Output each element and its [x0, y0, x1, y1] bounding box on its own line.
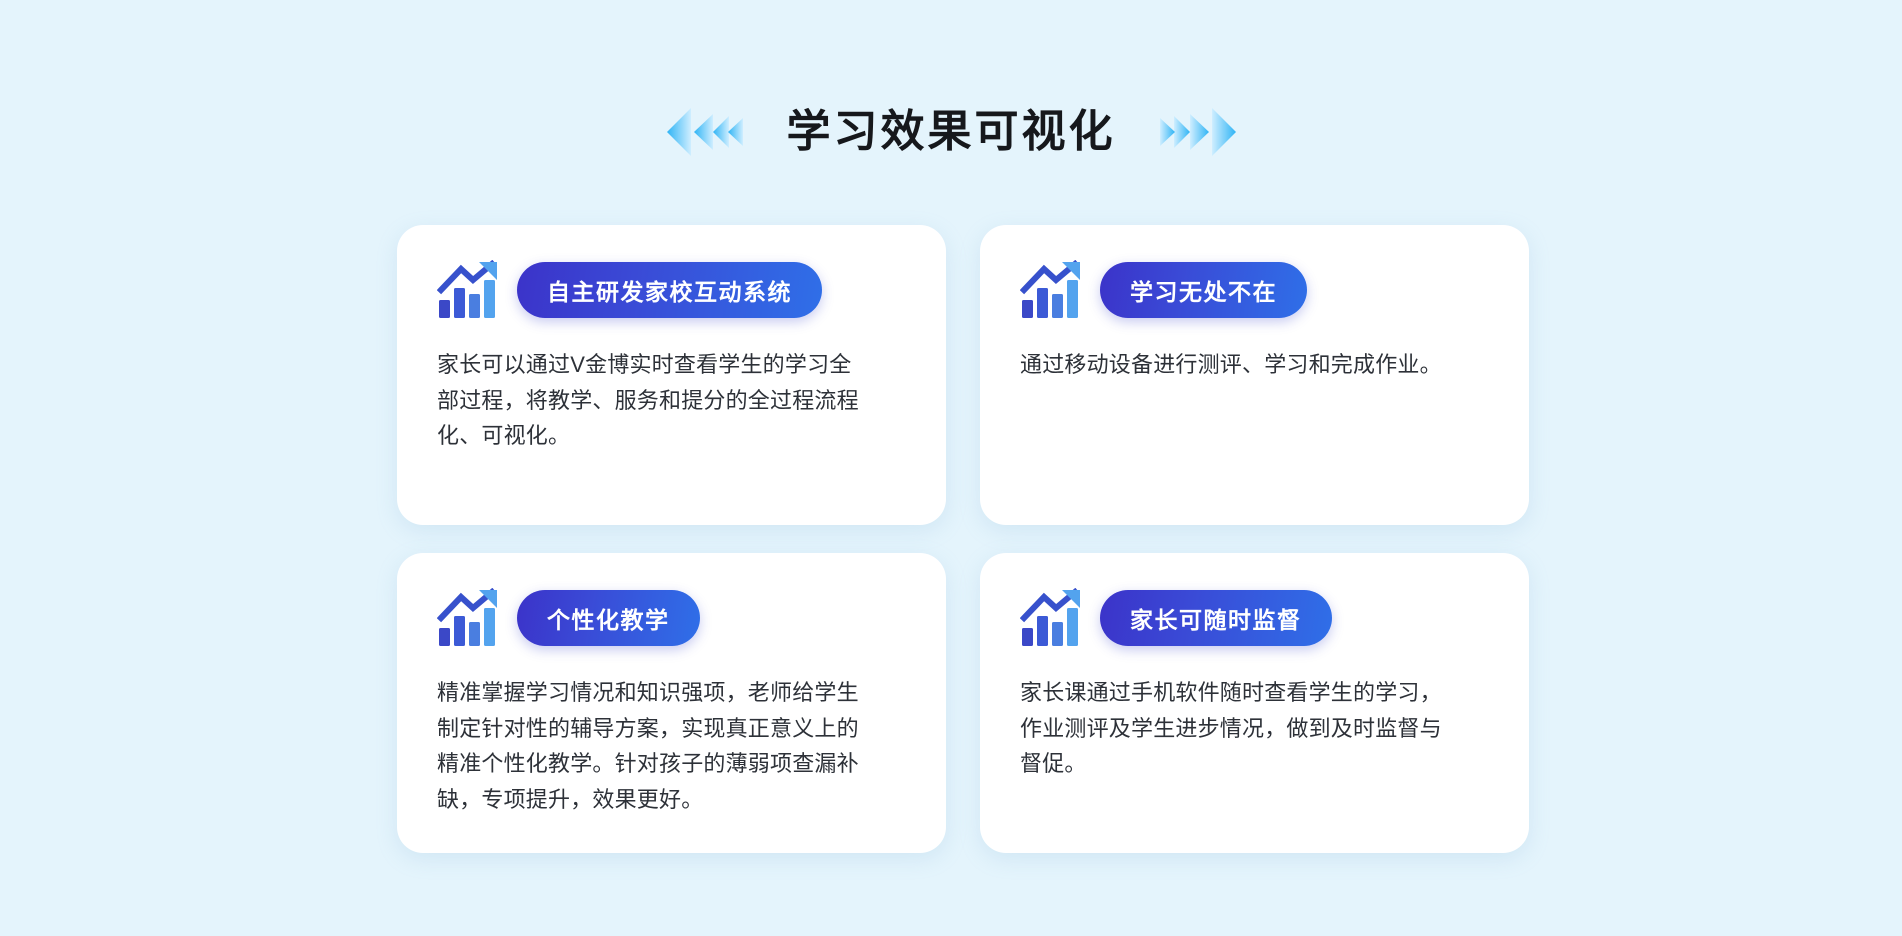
feature-card-grid: 自主研发家校互动系统 家长可以通过V金博实时查看学生的学习全部过程，将教学、服务… [397, 225, 1529, 853]
card-description: 家长课通过手机软件随时查看学生的学习，作业测评及学生进步情况，做到及时监督与督促… [1020, 675, 1450, 782]
bar-chart-growth-icon [1020, 260, 1084, 320]
card-description: 家长可以通过V金博实时查看学生的学习全部过程，将教学、服务和提分的全过程流程化、… [437, 347, 867, 454]
bar-chart-growth-icon [1020, 588, 1084, 648]
card-header: 学习无处不在 [1020, 259, 1489, 321]
triple-chevron-right-icon [1158, 104, 1238, 160]
feature-card[interactable]: 自主研发家校互动系统 家长可以通过V金博实时查看学生的学习全部过程，将教学、服务… [397, 225, 946, 525]
card-badge[interactable]: 家长可随时监督 [1100, 590, 1332, 646]
bar-chart-growth-icon [437, 260, 501, 320]
card-description: 通过移动设备进行测评、学习和完成作业。 [1020, 347, 1450, 383]
feature-card[interactable]: 个性化教学 精准掌握学习情况和知识强项，老师给学生制定针对性的辅导方案，实现真正… [397, 553, 946, 853]
card-header: 家长可随时监督 [1020, 587, 1489, 649]
triple-chevron-left-icon [665, 104, 745, 160]
card-badge[interactable]: 个性化教学 [517, 590, 700, 646]
card-description: 精准掌握学习情况和知识强项，老师给学生制定针对性的辅导方案，实现真正意义上的精准… [437, 675, 867, 818]
page-header: 学习效果可视化 [0, 92, 1902, 172]
page-root: 学习效果可视化 [0, 0, 1902, 936]
bar-chart-growth-icon [437, 588, 501, 648]
card-badge[interactable]: 自主研发家校互动系统 [517, 262, 822, 318]
card-header: 自主研发家校互动系统 [437, 259, 906, 321]
card-badge[interactable]: 学习无处不在 [1100, 262, 1307, 318]
card-header: 个性化教学 [437, 587, 906, 649]
feature-card[interactable]: 家长可随时监督 家长课通过手机软件随时查看学生的学习，作业测评及学生进步情况，做… [980, 553, 1529, 853]
page-title: 学习效果可视化 [787, 110, 1116, 154]
feature-card[interactable]: 学习无处不在 通过移动设备进行测评、学习和完成作业。 [980, 225, 1529, 525]
